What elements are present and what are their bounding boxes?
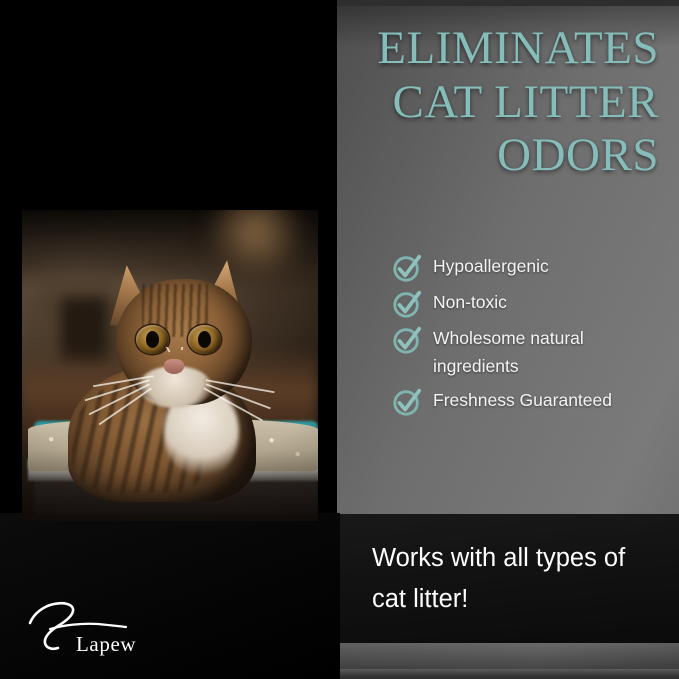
headline-line-1: ELIMINATES [279,22,659,76]
benefit-label: Wholesome natural ingredients [433,324,672,381]
kitten-photo [22,210,318,521]
benefits-list: Hypoallergenic Non-toxic Wholesome natur… [392,252,672,422]
check-circle-icon [392,325,422,355]
benefit-label: Hypoallergenic [433,252,549,280]
product-ad-banner: ELIMINATES CAT LITTER ODORS Hypoallergen… [0,0,679,679]
benefit-label: Freshness Guaranteed [433,386,612,414]
headline-line-2: CAT LITTER [279,76,659,130]
brand-logo: Lapew [28,595,178,659]
check-circle-icon [392,387,422,417]
photo-scene [22,210,318,521]
list-item: Hypoallergenic [392,252,672,283]
list-item: Non-toxic [392,288,672,319]
headline-line-3: ODORS [279,129,659,183]
check-circle-icon [392,253,422,283]
photo-vignette [22,210,318,521]
brand-name: Lapew [76,632,136,657]
callout-text: Works with all types of cat litter! [372,538,658,621]
callout-box: Works with all types of cat litter! [340,514,679,643]
benefit-label: Non-toxic [433,288,507,316]
page-title: ELIMINATES CAT LITTER ODORS [279,22,659,183]
list-item: Wholesome natural ingredients [392,324,672,381]
check-circle-icon [392,289,422,319]
list-item: Freshness Guaranteed [392,386,672,417]
